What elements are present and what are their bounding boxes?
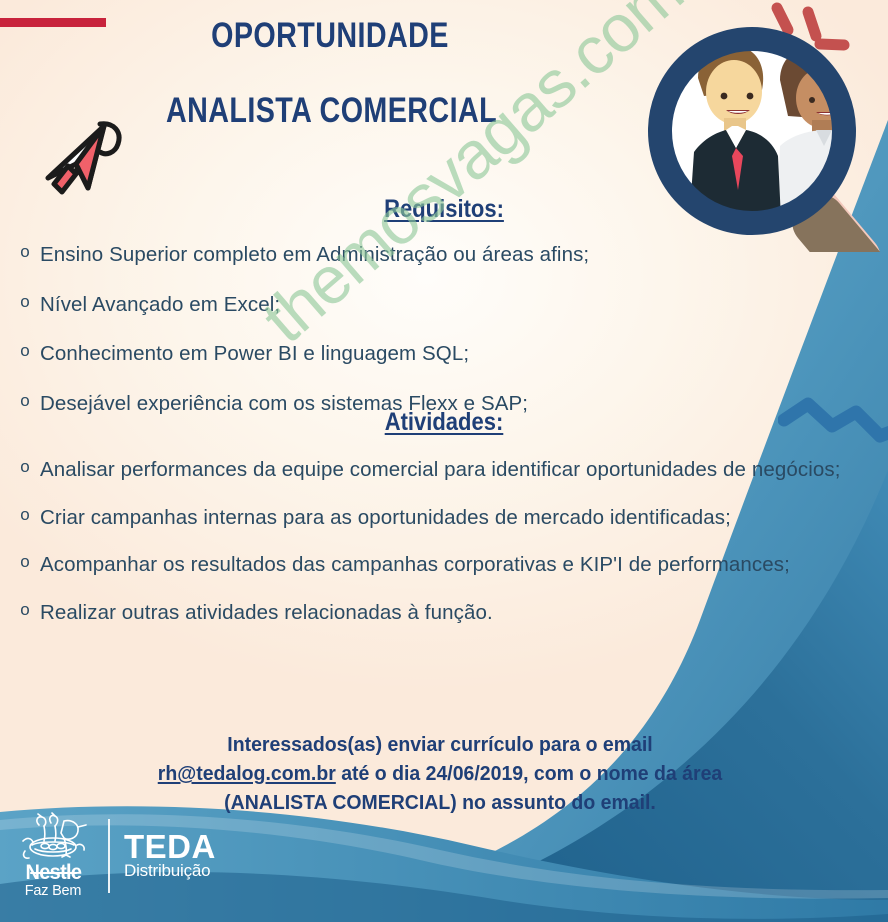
paper-plane-cursor-icon [38,100,134,198]
list-item: o Ensino Superior completo em Administra… [10,240,860,270]
bullet-marker: o [10,290,40,315]
teda-wordmark: TEDA [124,831,216,863]
nestle-wordmark: Nestle [25,863,81,883]
list-item: o Analisar performances da equipe comerc… [10,455,860,485]
list-item-text: Ensino Superior completo em Administraçã… [40,240,860,270]
job-title: ANALISTA COMERCIAL [166,93,494,130]
bullet-marker: o [10,503,40,528]
list-item-text: Conhecimento em Power BI e linguagem SQL… [40,339,860,369]
activities-heading: Atividades: [53,408,834,437]
title-block: OPORTUNIDADE ANALISTA COMERCIAL [130,18,530,130]
bullet-marker: o [10,455,40,480]
list-item: o Acompanhar os resultados das campanhas… [10,550,860,580]
page-title: OPORTUNIDADE [166,18,494,55]
contact-deadline-text: até o dia 24/06/2019, com o nome da área [336,762,722,785]
list-item: o Conhecimento em Power BI e linguagem S… [10,339,860,369]
bullet-marker: o [10,389,40,414]
activities-list: o Analisar performances da equipe comerc… [10,455,860,646]
list-item-text: Analisar performances da equipe comercia… [40,455,860,485]
list-item-text: Acompanhar os resultados das campanhas c… [40,550,860,580]
email-link[interactable]: rh@tedalog.com.br [158,762,336,785]
nestle-birds-nest-icon [17,811,89,861]
job-posting-poster: OPORTUNIDADE ANALISTA COMERCIAL [0,0,888,922]
list-item-text: Nível Avançado em Excel; [40,290,860,320]
logo-divider [108,819,110,893]
list-item-text: Realizar outras atividades relacionadas … [40,598,860,628]
bullet-marker: o [10,550,40,575]
nestle-tagline: Faz Bem [25,884,82,900]
bullet-marker: o [10,240,40,265]
teda-logo: TEDA Distribuição [124,831,216,880]
bullet-marker: o [10,339,40,364]
bullet-marker: o [10,598,40,623]
requirements-heading: Requisitos: [53,195,834,224]
accent-bar [0,18,106,27]
list-item: o Criar campanhas internas para as oport… [10,503,860,533]
list-item: o Nível Avançado em Excel; [10,290,860,320]
teda-tagline: Distribuição [124,862,216,880]
contact-block: Interessados(as) enviar currículo para o… [79,730,801,817]
contact-line-1: Interessados(as) enviar currículo para o… [79,730,801,759]
contact-line-2: rh@tedalog.com.br até o dia 24/06/2019, … [79,759,801,788]
footer-logos: Nestle Faz Bem TEDA Distribuição [14,811,216,900]
list-item: o Realizar outras atividades relacionada… [10,598,860,628]
nestle-logo: Nestle Faz Bem [14,811,92,900]
list-item-text: Criar campanhas internas para as oportun… [40,503,860,533]
